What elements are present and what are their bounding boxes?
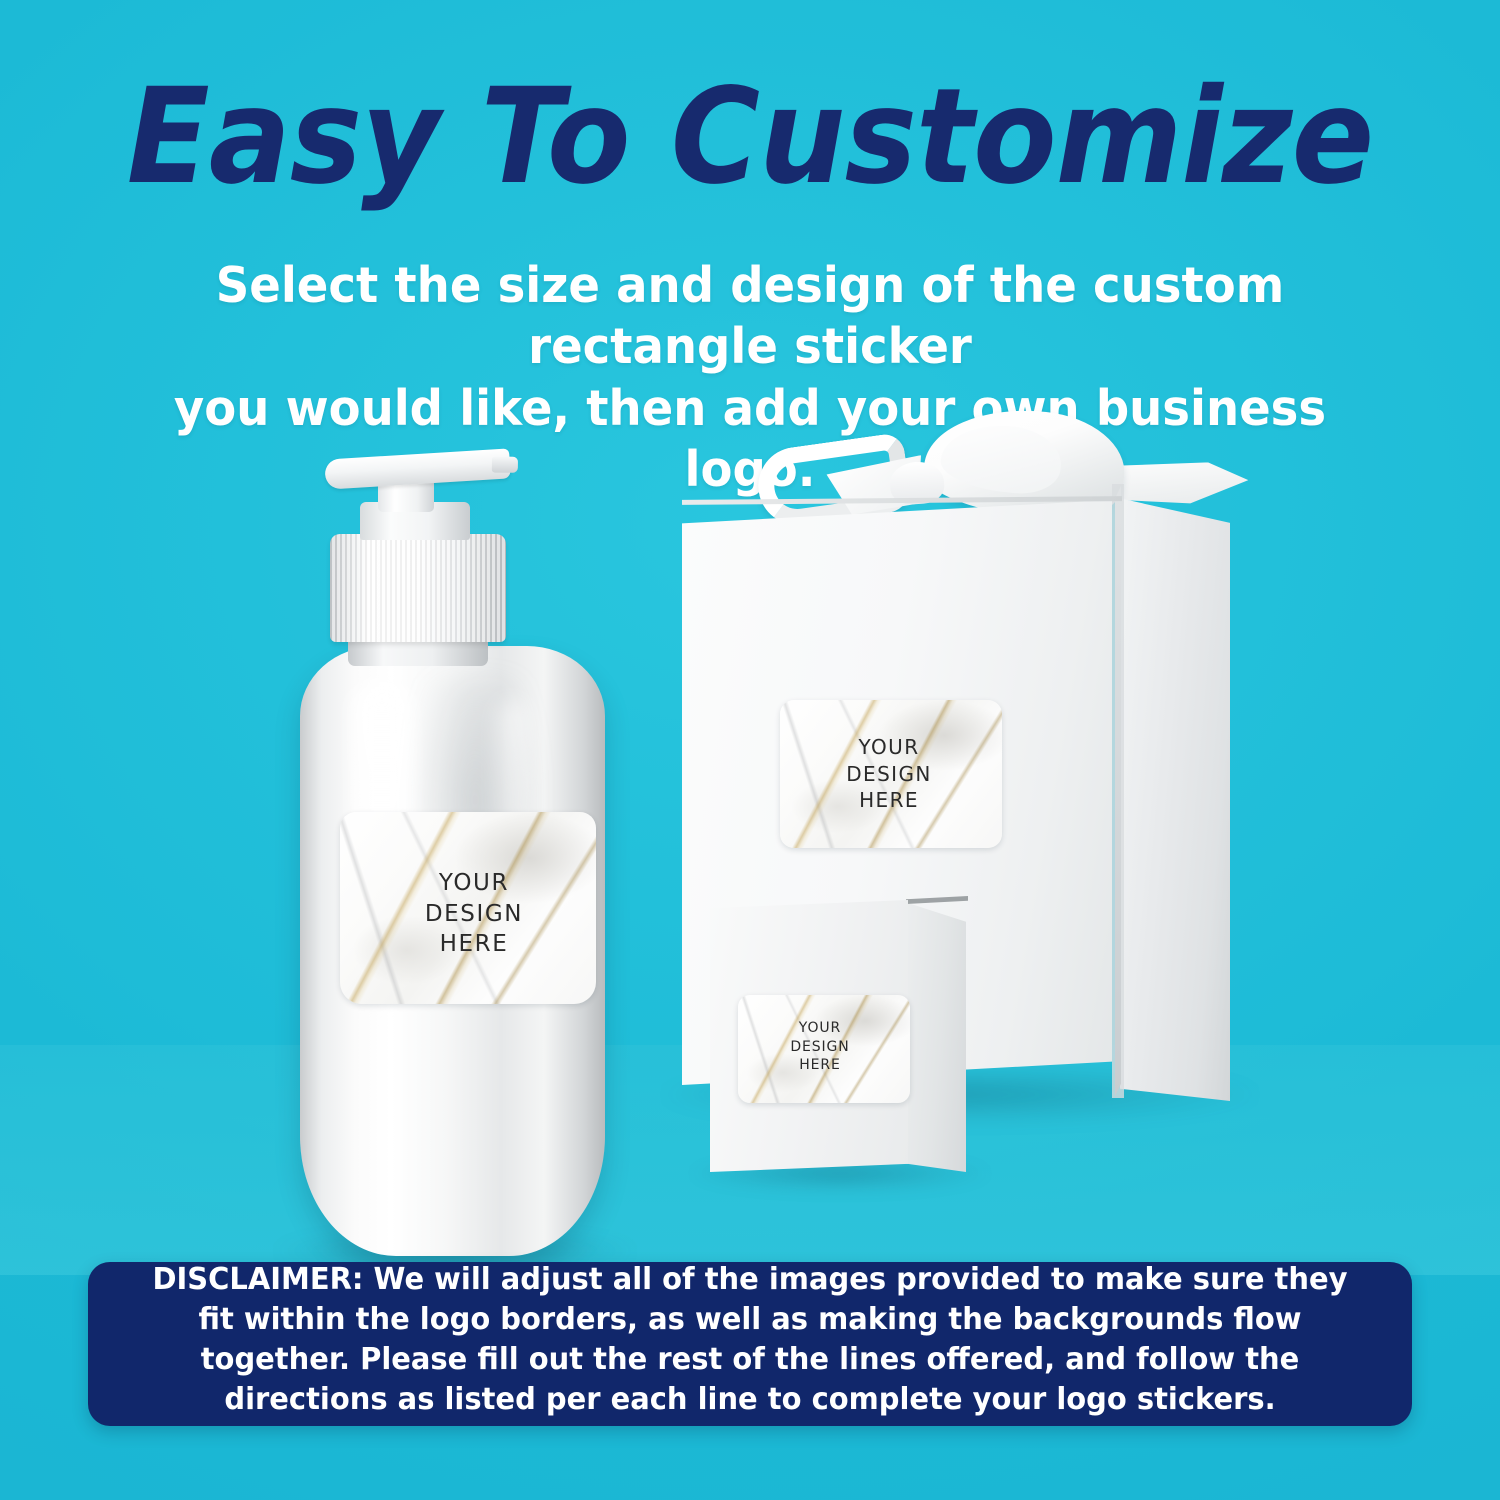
sticker-line-2: DESIGN (425, 899, 523, 929)
bottle-pump-nozzle (324, 448, 510, 489)
sticker-line-1: YOUR (846, 734, 932, 760)
gift-box-sticker-label[interactable]: YOUR DESIGN HERE (780, 700, 1002, 848)
sticker-line-2: DESIGN (846, 761, 932, 787)
sticker-line-1: YOUR (790, 1019, 849, 1037)
gift-box-side-panel (1120, 486, 1230, 1101)
bottle-sticker-label[interactable]: YOUR DESIGN HERE (340, 812, 596, 1004)
sticker-line-2: DESIGN (790, 1038, 849, 1056)
disclaimer-body: We will adjust all of the images provide… (199, 1262, 1348, 1418)
promo-graphic-canvas: Easy To Customize Select the size and de… (0, 0, 1500, 1500)
disclaimer-banner: DISCLAIMER: We will adjust all of the im… (88, 1262, 1412, 1426)
small-box-top-edge (906, 896, 968, 904)
gift-box-seam (1115, 486, 1121, 1096)
page-title: Easy To Customize (60, 70, 1440, 205)
small-box-side-panel (906, 894, 966, 1172)
sticker-line-1: YOUR (425, 868, 523, 898)
disclaimer-label: DISCLAIMER: (152, 1262, 363, 1297)
sticker-line-3: HERE (790, 1056, 849, 1074)
small-box-sticker-label[interactable]: YOUR DESIGN HERE (738, 995, 910, 1103)
sticker-line-3: HERE (425, 929, 523, 959)
sticker-text-block: YOUR DESIGN HERE (846, 734, 932, 813)
disclaimer-text: DISCLAIMER: We will adjust all of the im… (144, 1260, 1356, 1421)
bottle-pump-collar (330, 534, 506, 642)
sticker-text-block: YOUR DESIGN HERE (425, 868, 523, 959)
sticker-text-block: YOUR DESIGN HERE (790, 1019, 849, 1074)
sticker-line-3: HERE (846, 787, 932, 813)
subtitle-line-1: Select the size and design of the custom… (114, 255, 1387, 378)
